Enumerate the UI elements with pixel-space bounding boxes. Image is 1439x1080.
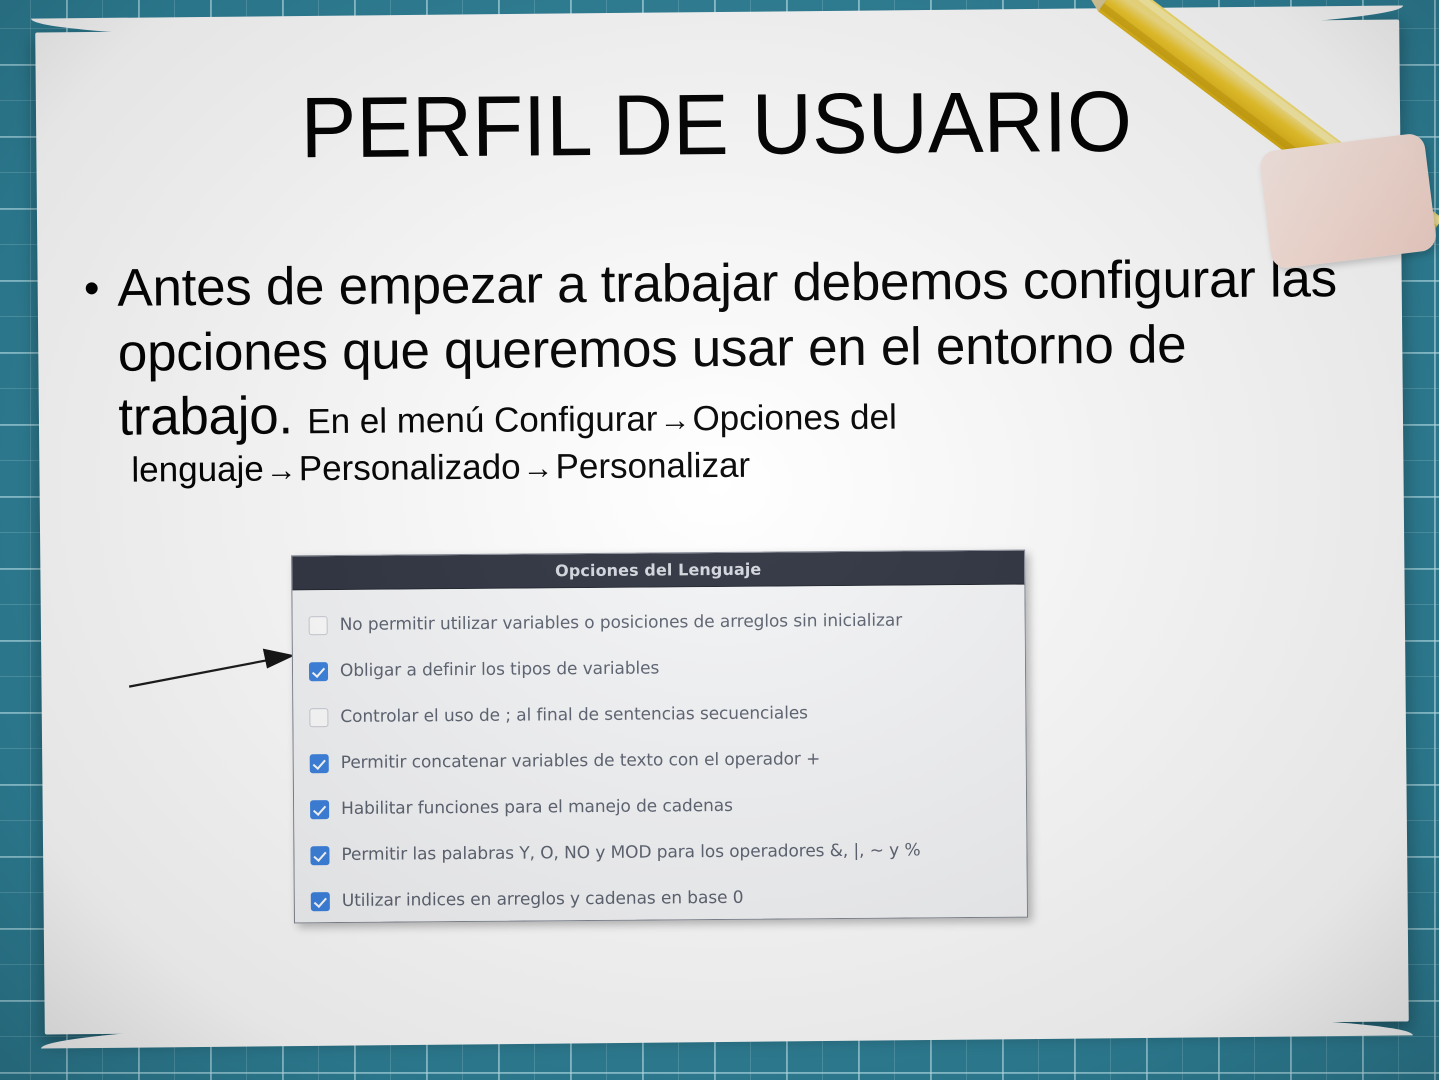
bullet-paragraph: • Antes de empezar a trabajar debemos co… (84, 247, 1345, 451)
option-row[interactable]: Habilitar funciones para el manejo de ca… (294, 781, 1026, 833)
bullet-continuation-line: lenguaje→Personalizado→Personalizar (131, 439, 1371, 492)
pointer-arrow-icon (127, 643, 297, 690)
option-label: Obligar a definir los tipos de variables (340, 658, 659, 681)
option-label: No permitir utilizar variables o posicio… (340, 611, 903, 635)
bullet-note-text-1: En el menú Configurar (307, 400, 657, 442)
option-label: Utilizar indices en arreglos y cadenas e… (342, 888, 744, 911)
option-row[interactable]: Permitir concatenar variables de texto c… (294, 735, 1026, 787)
checkbox-checked-icon[interactable] (311, 892, 330, 911)
checkbox-checked-icon[interactable] (309, 662, 328, 681)
option-label: Controlar el uso de ; al final de senten… (340, 703, 808, 727)
page-title: PERFIL DE USUARIO (18, 77, 1414, 174)
option-row[interactable]: Controlar el uso de ; al final de senten… (293, 689, 1025, 741)
dialog-title: Opciones del Lenguaje (555, 560, 761, 581)
option-label: Permitir concatenar variables de texto c… (341, 749, 821, 773)
bullet-note-text-4: Personalizado (299, 448, 521, 489)
checkbox-checked-icon[interactable] (310, 846, 329, 865)
bullet-text-wrapper: Antes de empezar a trabajar debemos conf… (117, 247, 1345, 451)
bullet-marker: • (84, 267, 100, 311)
slide-canvas: PERFIL DE USUARIO • Antes de empezar a t… (0, 0, 1439, 1080)
arrow-glyph-2: → (264, 452, 299, 487)
bullet-note-text-2: Opciones del (692, 398, 897, 439)
arrow-glyph-3: → (520, 450, 555, 485)
slide-content: PERFIL DE USUARIO • Antes de empezar a t… (0, 0, 1439, 1080)
option-row[interactable]: No permitir utilizar variables o posicio… (292, 597, 1024, 649)
checkbox-unchecked-icon[interactable] (309, 616, 328, 635)
eraser-icon (1258, 132, 1437, 269)
dialog-body: No permitir utilizar variables o posicio… (292, 585, 1027, 924)
option-row[interactable]: Utilizar indices en arreglos y cadenas e… (295, 873, 1027, 924)
language-options-dialog: Opciones del Lenguaje No permitir utiliz… (291, 550, 1028, 924)
option-label: Permitir las palabras Y, O, NO y MOD par… (341, 840, 920, 865)
option-row[interactable]: Obligar a definir los tipos de variables (293, 643, 1025, 695)
dialog-titlebar: Opciones del Lenguaje (292, 551, 1024, 591)
checkbox-checked-icon[interactable] (310, 800, 329, 819)
checkbox-unchecked-icon[interactable] (309, 708, 328, 727)
bullet-note-text-3: lenguaje (131, 450, 264, 490)
option-label: Habilitar funciones para el manejo de ca… (341, 796, 733, 819)
option-row[interactable]: Permitir las palabras Y, O, NO y MOD par… (294, 827, 1026, 879)
bullet-note-text-5: Personalizar (555, 446, 750, 487)
checkbox-checked-icon[interactable] (310, 754, 329, 773)
arrow-glyph-1: → (657, 403, 692, 438)
